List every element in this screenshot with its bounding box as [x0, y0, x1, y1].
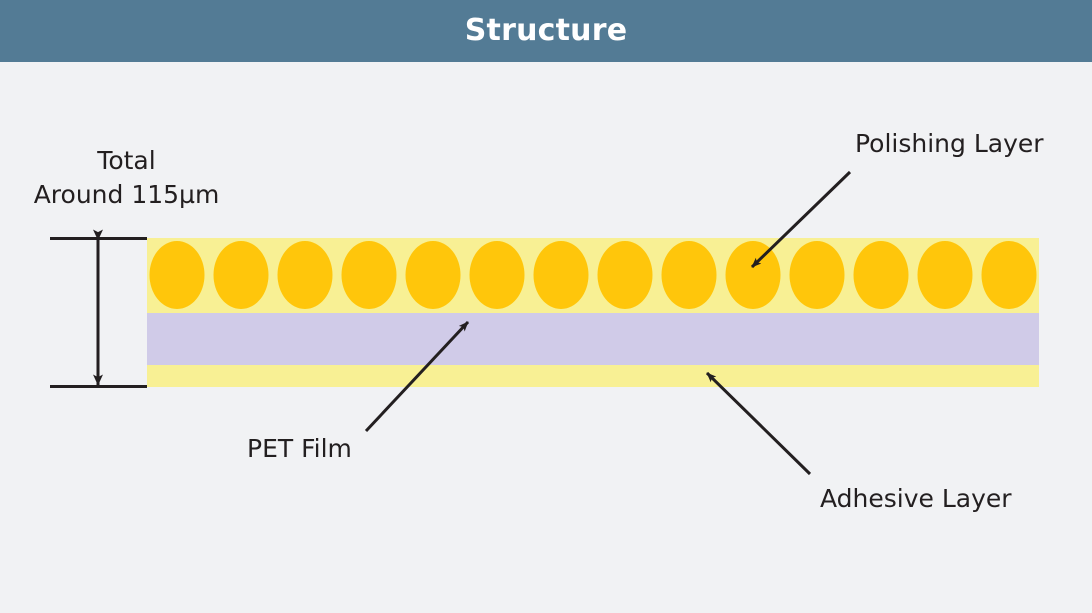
polishing-particle [150, 241, 205, 309]
polishing-particle [790, 241, 845, 309]
polishing-particle [406, 241, 461, 309]
thickness-label-line2: Around 115µm [0, 178, 253, 212]
polishing-particle [854, 241, 909, 309]
polishing-layer-label: Polishing Layer [855, 127, 1044, 161]
polishing-particle [342, 241, 397, 309]
thickness-label-line1: Total [0, 144, 253, 178]
polishing-particle [918, 241, 973, 309]
adhesive-layer-band [147, 365, 1039, 387]
header-bar: Structure [0, 0, 1092, 62]
polishing-particle [214, 241, 269, 309]
polishing-particle [534, 241, 589, 309]
polishing-particle [598, 241, 653, 309]
polishing-particle [278, 241, 333, 309]
thickness-dimension-label: Total Around 115µm [0, 144, 253, 212]
polishing-particle [726, 241, 781, 309]
adhesive-layer-label: Adhesive Layer [820, 482, 1012, 516]
polishing-particle [662, 241, 717, 309]
pet-film-band [147, 313, 1039, 365]
page-title: Structure [0, 0, 1092, 62]
thickness-dimension [50, 239, 147, 387]
structure-diagram: Total Around 115µm Polishing Layer PET F… [0, 62, 1092, 613]
polishing-particle [982, 241, 1037, 309]
polishing-particle [470, 241, 525, 309]
pet-film-label: PET Film [247, 432, 352, 466]
adhesive-layer-leader [707, 373, 810, 474]
